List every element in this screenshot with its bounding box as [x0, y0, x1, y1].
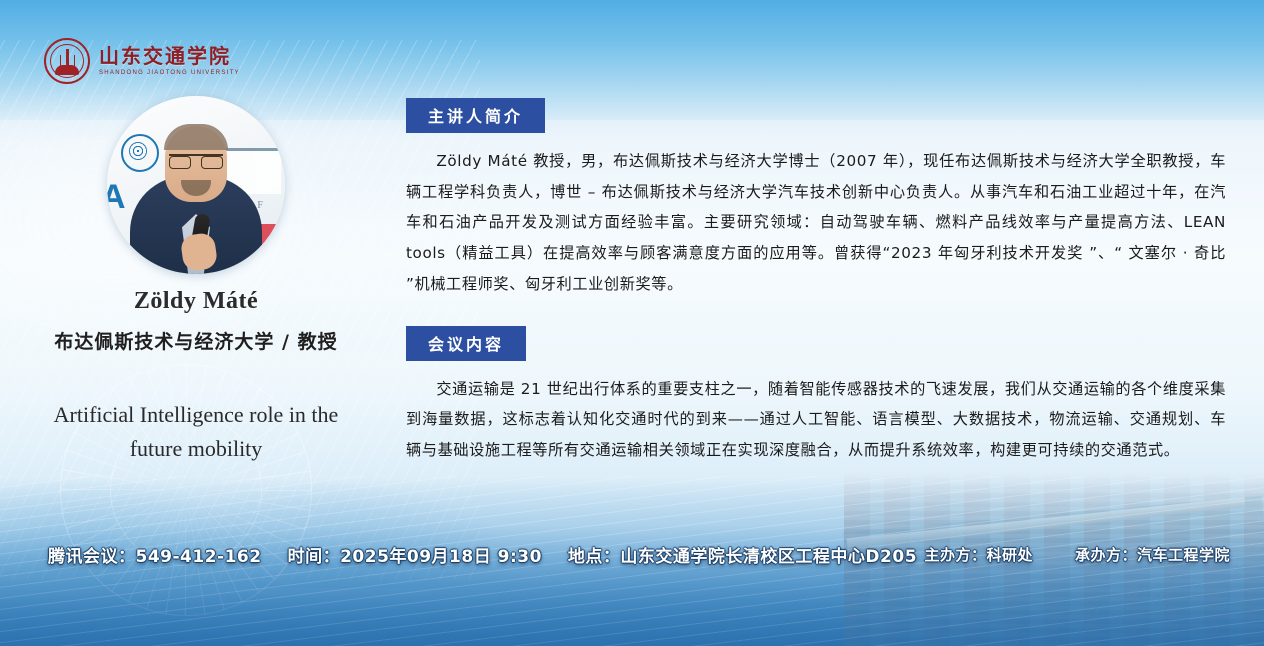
- university-logo: 山东交通学院 SHANDONG JIAOTONG UNIVERSITY: [44, 38, 240, 84]
- section-badge-speaker-bio: 主讲人简介: [406, 98, 545, 133]
- meeting-info: 腾讯会议：549-412-162: [48, 542, 262, 567]
- place-label: 地点：: [568, 547, 621, 567]
- speaker-bio-text: Zöldy Máté 教授，男，布达佩斯技术与经济大学博士（2007 年），现任…: [406, 146, 1226, 300]
- university-seal-icon: [44, 38, 90, 84]
- meeting-content-text: 交通运输是 21 世纪出行体系的重要支柱之一，随着智能传感器技术的飞速发展，我们…: [406, 374, 1226, 466]
- footer-left-group: 腾讯会议：549-412-162 时间：2025年09月18日 9:30 地点：…: [48, 542, 917, 567]
- section-meeting-content: 会议内容 交通运输是 21 世纪出行体系的重要支柱之一，随着智能传感器技术的飞速…: [406, 326, 1226, 466]
- portrait-backdrop-logo-icon: [121, 134, 159, 172]
- section-speaker-bio: 主讲人简介 Zöldy Máté 教授，男，布达佩斯技术与经济大学博士（2007…: [406, 98, 1226, 300]
- university-name-en: SHANDONG JIAOTONG UNIVERSITY: [99, 70, 240, 76]
- portrait-glasses-icon: [169, 154, 223, 168]
- content-panel: 主讲人简介 Zöldy Máté 教授，男，布达佩斯技术与经济大学博士（2007…: [406, 98, 1226, 466]
- meeting-id: 549-412-162: [136, 547, 262, 567]
- portrait-backdrop-letter: A: [107, 178, 126, 217]
- speaker-panel: A EGVF Zöldy Máté 布达佩斯技术与经济大学 / 教授 Artif…: [0, 96, 392, 466]
- time-info: 时间：2025年09月18日 9:30: [288, 542, 542, 567]
- speaker-affiliation: 布达佩斯技术与经济大学 / 教授: [0, 327, 392, 354]
- footer-right-group: 主办方：科研处 承办方：汽车工程学院: [924, 544, 1230, 565]
- seal-base-shape: [55, 65, 79, 75]
- place-info: 地点：山东交通学院长清校区工程中心D205: [568, 542, 917, 567]
- time-label: 时间：: [288, 547, 341, 567]
- lecture-poster: 山东交通学院 SHANDONG JIAOTONG UNIVERSITY A EG…: [0, 0, 1264, 646]
- university-name-cn: 山东交通学院: [99, 46, 240, 66]
- place-value: 山东交通学院长清校区工程中心D205: [620, 547, 917, 567]
- poster-footer: 腾讯会议：549-412-162 时间：2025年09月18日 9:30 地点：…: [0, 536, 1264, 646]
- time-value: 2025年09月18日 9:30: [340, 547, 542, 567]
- speaker-name: Zöldy Máté: [0, 288, 392, 315]
- section-badge-meeting-content: 会议内容: [406, 326, 526, 361]
- university-logo-text: 山东交通学院 SHANDONG JIAOTONG UNIVERSITY: [99, 46, 240, 76]
- speaker-portrait: A EGVF: [107, 96, 285, 274]
- meeting-label: 腾讯会议：: [48, 547, 136, 567]
- co-organizer: 承办方：汽车工程学院: [1075, 544, 1230, 565]
- lecture-topic: Artificial Intelligence role in the futu…: [41, 398, 351, 466]
- organizer: 主办方：科研处: [924, 544, 1033, 565]
